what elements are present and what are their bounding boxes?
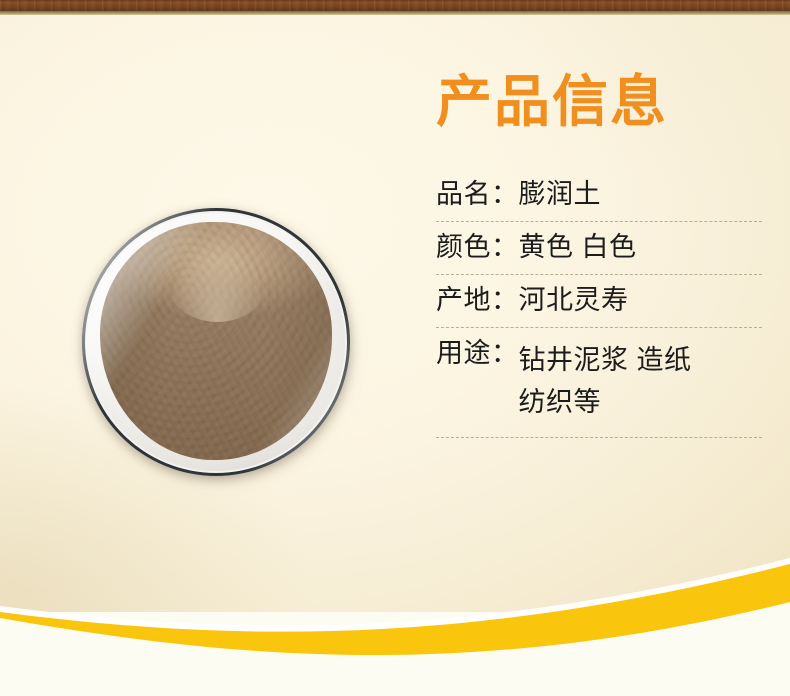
spec-row: 产地： 河北灵寿 <box>436 275 762 327</box>
spec-label: 颜色： <box>436 234 519 261</box>
product-photo <box>72 198 362 490</box>
product-info-banner: 产品信息 品名： 膨润土 颜色： 黄色 白色 产地： 河北灵寿 用途： 钻井泥浆… <box>0 0 790 696</box>
spec-divider <box>436 437 762 438</box>
swoosh-svg <box>0 540 790 696</box>
ceramic-bowl <box>82 208 350 476</box>
bentonite-powder <box>100 222 332 460</box>
powder-shading <box>100 222 332 460</box>
spec-value: 河北灵寿 <box>519 287 629 314</box>
spec-row: 品名： 膨润土 <box>436 169 762 221</box>
spec-list: 品名： 膨润土 颜色： 黄色 白色 产地： 河北灵寿 用途： 钻井泥浆 造纸 纺… <box>436 169 762 438</box>
spec-label: 品名： <box>436 181 519 208</box>
bottom-swoosh <box>0 540 790 696</box>
spec-value: 黄色 白色 <box>519 234 637 261</box>
spec-row: 颜色： 黄色 白色 <box>436 222 762 274</box>
page-title: 产品信息 <box>436 72 762 131</box>
spec-row: 用途： 钻井泥浆 造纸 纺织等 <box>436 328 762 437</box>
spec-label: 用途： <box>436 340 519 367</box>
info-column: 产品信息 品名： 膨润土 颜色： 黄色 白色 产地： 河北灵寿 用途： 钻井泥浆… <box>436 72 762 438</box>
top-wood-bar <box>0 0 790 11</box>
spec-value: 钻井泥浆 造纸 纺织等 <box>519 340 692 424</box>
spec-label: 产地： <box>436 287 519 314</box>
spec-value: 膨润土 <box>519 181 602 208</box>
